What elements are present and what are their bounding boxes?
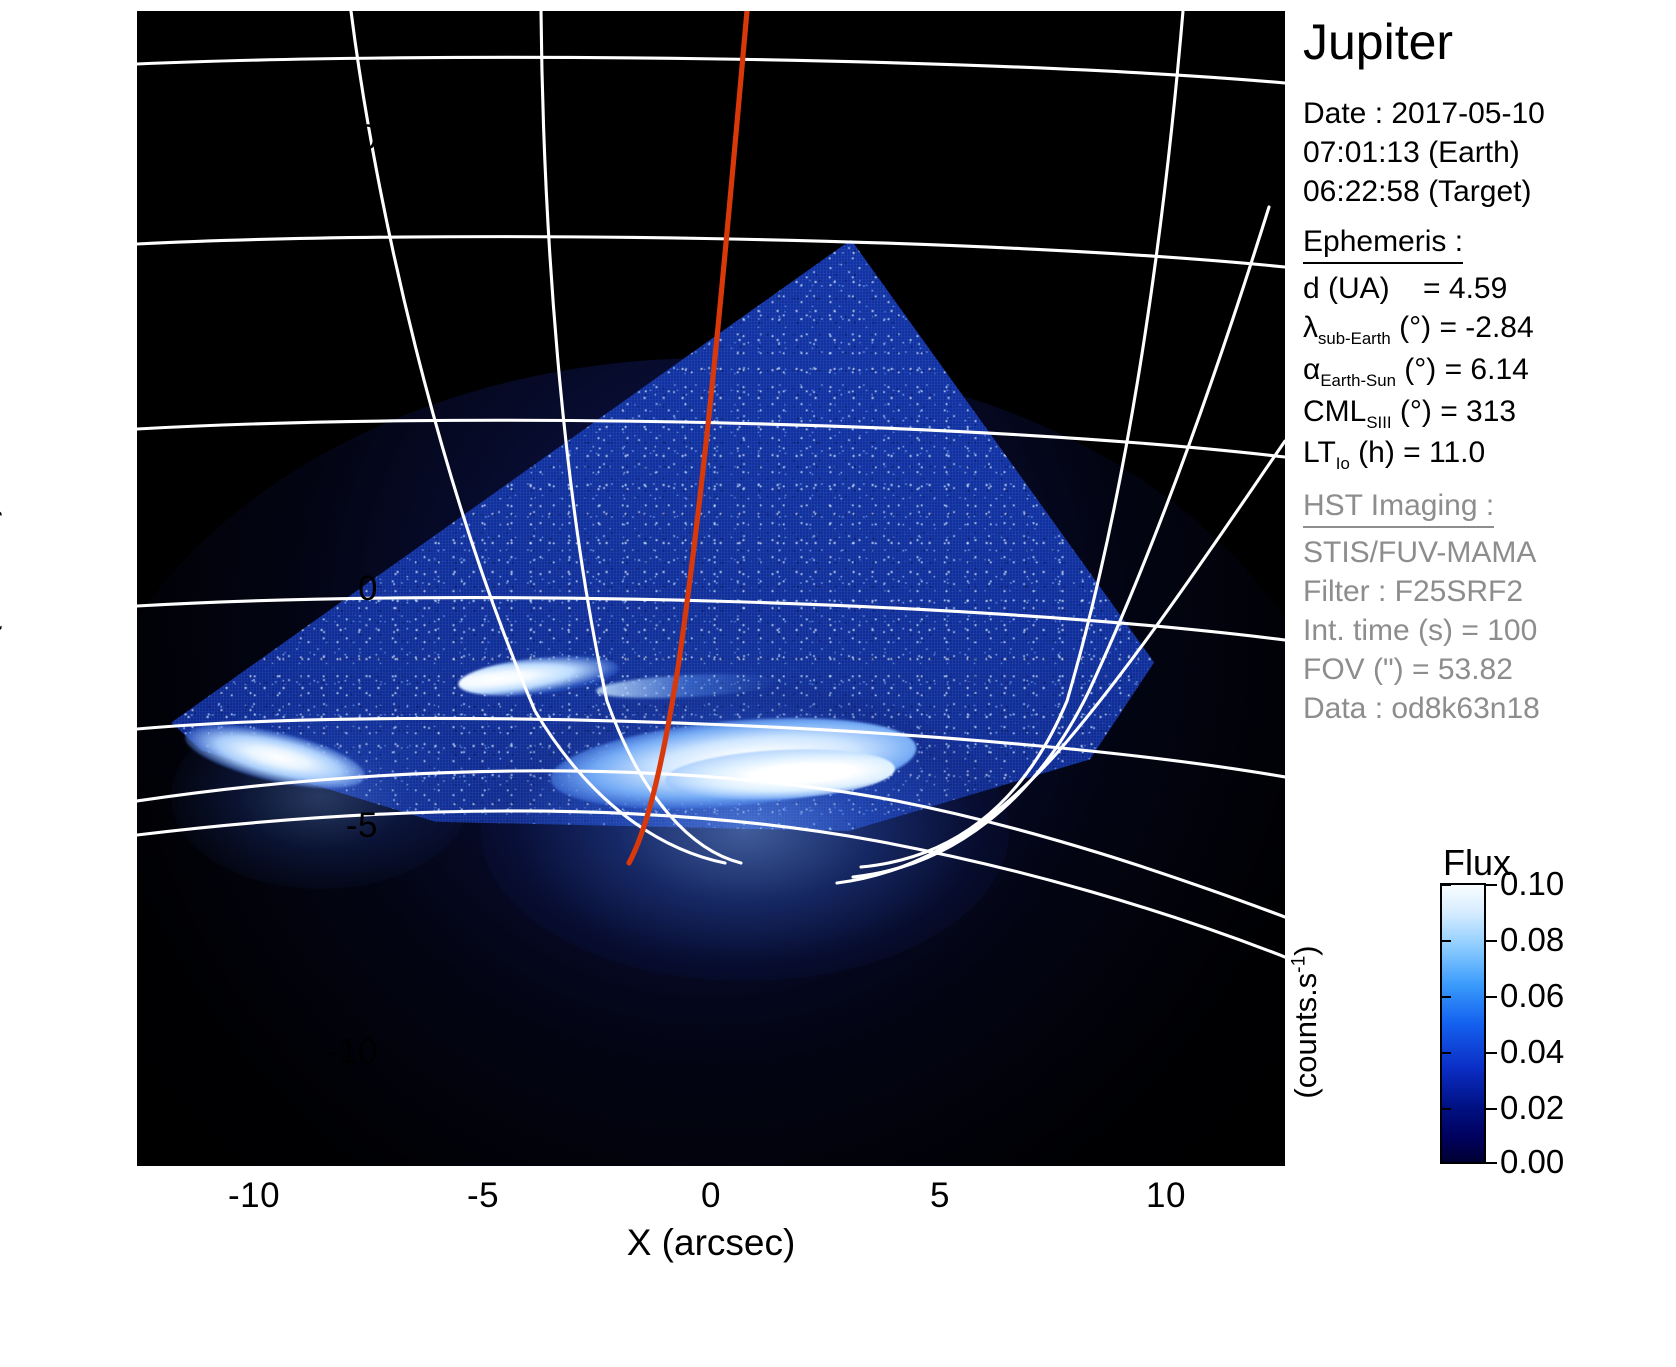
ephemeris-value: = 6.14 xyxy=(1445,353,1529,386)
colorbar-tick-label: 0.08 xyxy=(1500,921,1564,959)
colorbar-unit-prefix: (counts.s xyxy=(1288,973,1323,1099)
ephemeris-value: = 4.59 xyxy=(1423,272,1507,305)
y-axis-title: Y (arcsec) xyxy=(0,438,3,738)
hst-dataset-id: Data : od8k63n18 xyxy=(1303,689,1676,728)
x-tick-label: 5 xyxy=(930,1176,950,1216)
colorbar-tick-label: 0.04 xyxy=(1500,1033,1564,1071)
ephemeris-value: = -2.84 xyxy=(1439,311,1533,344)
hst-integration-time: Int. time (s) = 100 xyxy=(1303,611,1676,650)
ephemeris-unit: (h) xyxy=(1358,436,1395,469)
ephemeris-unit: (°) xyxy=(1399,311,1431,344)
image-plot-area xyxy=(137,11,1285,1166)
ephemeris-label: d (UA) xyxy=(1303,272,1390,305)
x-axis-title: X (arcsec) xyxy=(627,1222,796,1264)
ephemeris-value: = 313 xyxy=(1440,395,1516,428)
cml-meridian-line xyxy=(137,11,1285,1166)
ephemeris-heading: Ephemeris : xyxy=(1303,225,1463,264)
colorbar-gradient xyxy=(1440,883,1486,1164)
ephemeris-row-phase-angle: αEarth-Sun (°) = 6.14 xyxy=(1303,350,1676,392)
hst-filter: Filter : F25SRF2 xyxy=(1303,572,1676,611)
y-tick-label: 5 xyxy=(358,343,378,383)
ephemeris-subscript: Earth-Sun xyxy=(1320,371,1396,390)
colorbar-unit-label: (counts.s-1) xyxy=(1288,872,1324,1172)
ephemeris-label: LT xyxy=(1303,436,1336,469)
ephemeris-unit: (°) xyxy=(1400,395,1432,428)
hst-field-of-view: FOV (") = 53.82 xyxy=(1303,650,1676,689)
ephemeris-row-sub-earth-latitude: λsub-Earth (°) = -2.84 xyxy=(1303,308,1676,350)
ephemeris-label: α xyxy=(1303,353,1320,386)
x-tick-label: -5 xyxy=(467,1176,499,1216)
ephemeris-subscript: Io xyxy=(1336,454,1350,473)
observation-time-earth: 07:01:13 (Earth) xyxy=(1303,133,1676,172)
hst-imaging-heading: HST Imaging : xyxy=(1303,489,1494,528)
y-tick-label: -5 xyxy=(346,806,378,846)
ephemeris-unit: (°) xyxy=(1404,353,1436,386)
x-tick-label: -10 xyxy=(228,1176,280,1216)
x-tick-label: 10 xyxy=(1146,1176,1186,1216)
colorbar-unit-suffix: ) xyxy=(1288,945,1323,955)
metadata-panel: Jupiter Date : 2017-05-10 07:01:13 (Eart… xyxy=(1300,12,1676,728)
ephemeris-label: λ xyxy=(1303,311,1318,344)
colorbar-unit-exponent: -1 xyxy=(1289,956,1310,973)
colorbar-tick-label: 0.02 xyxy=(1500,1089,1564,1127)
ephemeris-subscript: SIII xyxy=(1366,413,1391,432)
ephemeris-row-distance: d (UA) = 4.59 xyxy=(1303,269,1676,308)
colorbar-tick-label: 0.06 xyxy=(1500,977,1564,1015)
y-tick-label: -10 xyxy=(326,1032,378,1072)
ephemeris-label: CML xyxy=(1303,395,1366,428)
colorbar-tick-label: 0.10 xyxy=(1500,865,1564,903)
y-tick-label: 10 xyxy=(338,118,378,158)
x-tick-label: 0 xyxy=(701,1176,721,1216)
observation-time-target: 06:22:58 (Target) xyxy=(1303,172,1676,211)
ephemeris-subscript: sub-Earth xyxy=(1318,329,1391,348)
page-title: Jupiter xyxy=(1303,16,1676,68)
y-tick-label: 0 xyxy=(358,569,378,609)
ephemeris-value: = 11.0 xyxy=(1403,436,1485,469)
ephemeris-row-cml: CMLSIII (°) = 313 xyxy=(1303,392,1676,434)
ephemeris-row-io-local-time: LTIo (h) = 11.0 xyxy=(1303,433,1676,475)
observation-date: Date : 2017-05-10 xyxy=(1303,94,1676,133)
hst-instrument: STIS/FUV-MAMA xyxy=(1303,533,1676,572)
colorbar-tick-label: 0.00 xyxy=(1500,1143,1564,1181)
